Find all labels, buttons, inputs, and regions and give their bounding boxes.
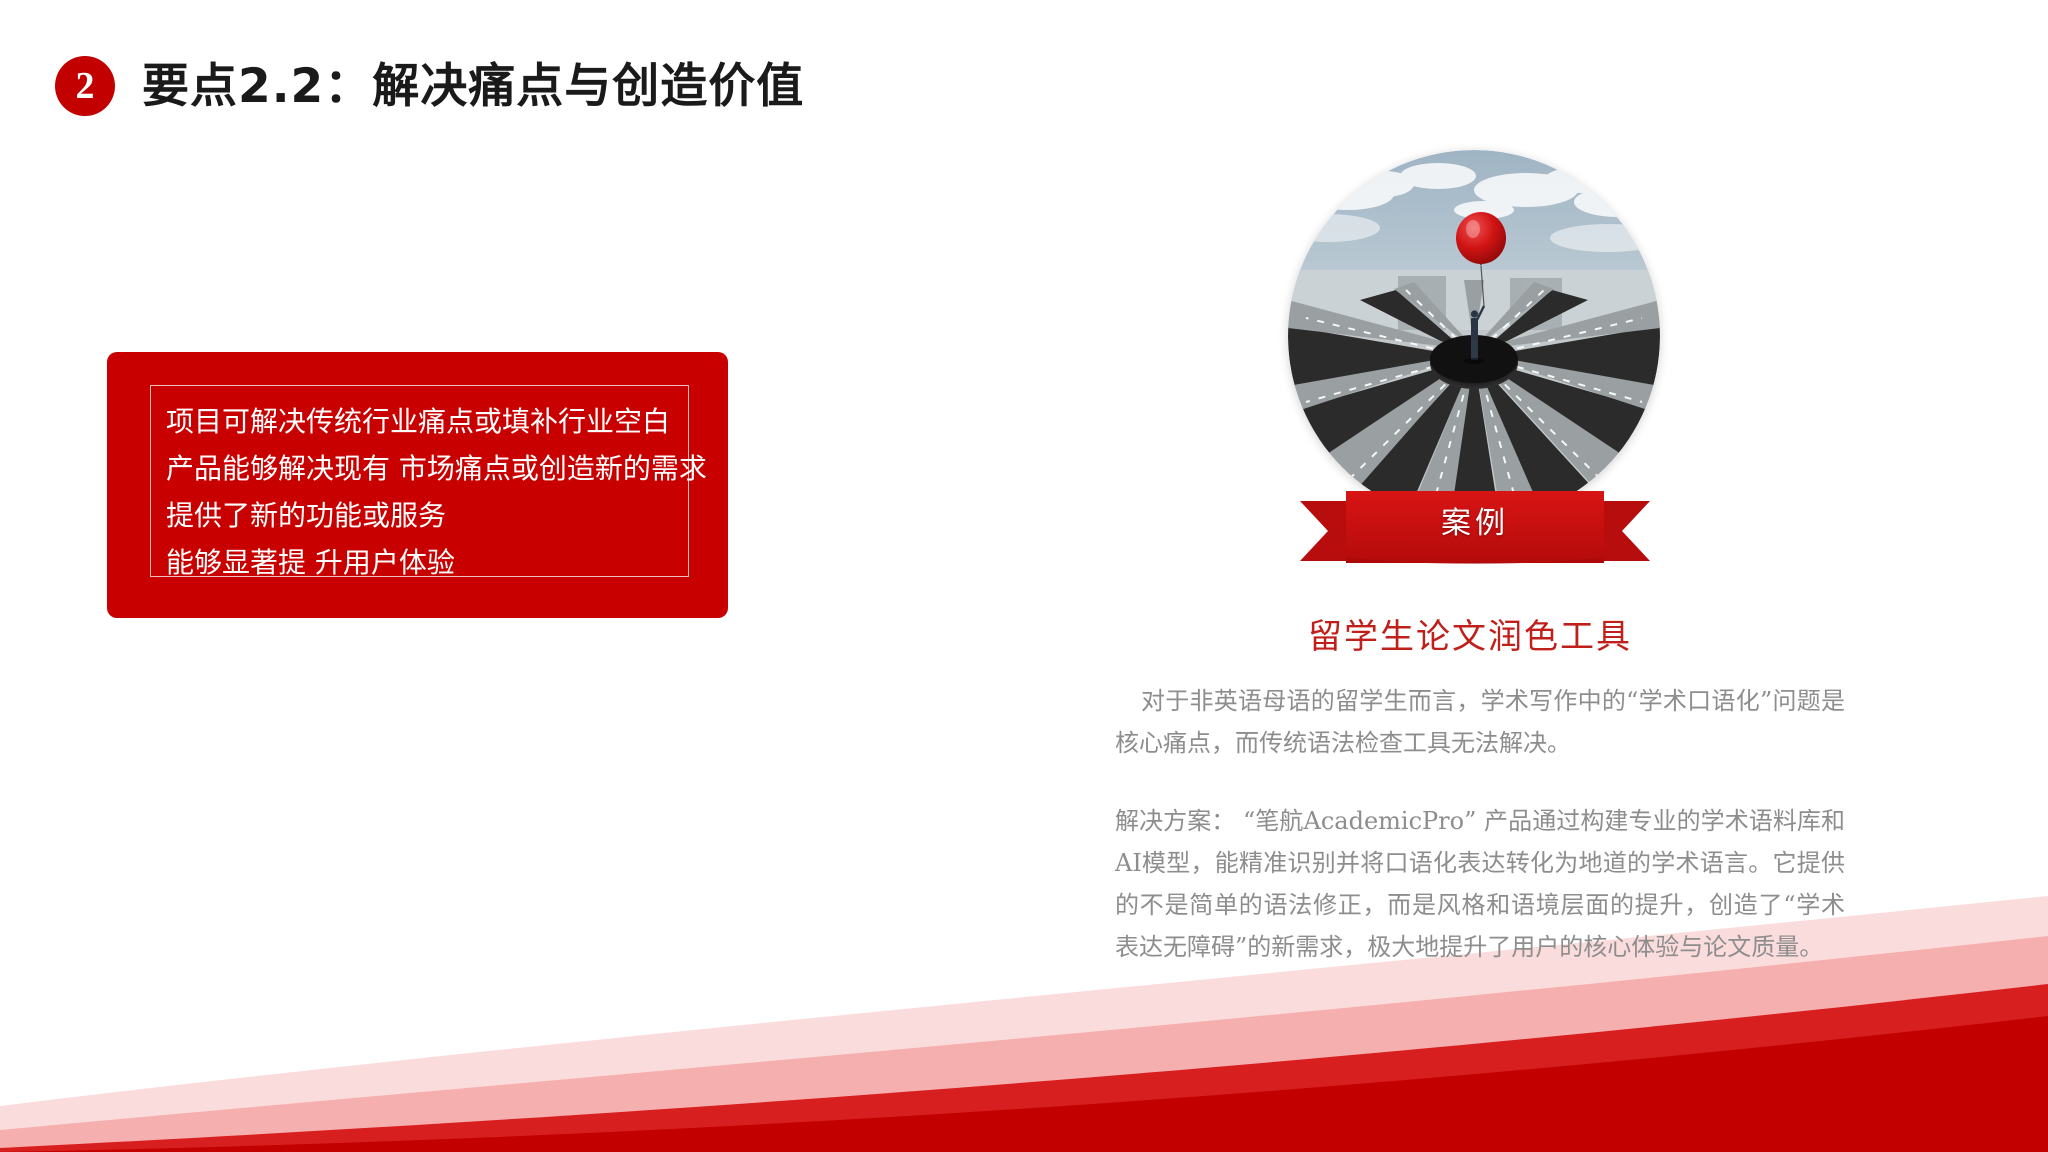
key-points-inner-border: 项目可解决传统行业痛点或填补行业空白 产品能够解决现有 市场痛点或创造新的需求 … <box>150 385 689 577</box>
section-number-badge: 2 <box>55 56 115 116</box>
key-points-panel: 项目可解决传统行业痛点或填补行业空白 产品能够解决现有 市场痛点或创造新的需求 … <box>107 352 728 618</box>
slide-header: 2 要点2.2：解决痛点与创造价值 <box>0 0 2048 160</box>
list-item: 提供了新的功能或服务 <box>166 492 680 539</box>
case-study-title: 留学生论文润色工具 <box>1120 612 1820 662</box>
case-paragraph-problem: 对于非英语母语的留学生而言，学术写作中的“学术口语化”问题是核心痛点，而传统语法… <box>1115 680 1845 764</box>
case-image-wrapper <box>1288 150 1660 522</box>
slide-canvas: 2 要点2.2：解决痛点与创造价值 项目可解决传统行业痛点或填补行业空白 产品能… <box>0 0 2048 1152</box>
case-ribbon: 案例 <box>1300 487 1650 587</box>
case-paragraph-solution: 解决方案： “笔航AcademicPro” 产品通过构建专业的学术语料库和AI模… <box>1115 800 1845 968</box>
list-item: 产品能够解决现有 市场痛点或创造新的需求 <box>166 445 680 492</box>
list-item: 能够显著提 升用户体验 <box>166 539 680 586</box>
ribbon-label: 案例 <box>1300 501 1650 547</box>
crossroads-balloon-photo <box>1288 150 1660 522</box>
key-points-list: 项目可解决传统行业痛点或填补行业空白 产品能够解决现有 市场痛点或创造新的需求 … <box>166 398 680 586</box>
list-item: 项目可解决传统行业痛点或填补行业空白 <box>166 398 680 445</box>
page-title: 要点2.2：解决痛点与创造价值 <box>142 52 804 122</box>
